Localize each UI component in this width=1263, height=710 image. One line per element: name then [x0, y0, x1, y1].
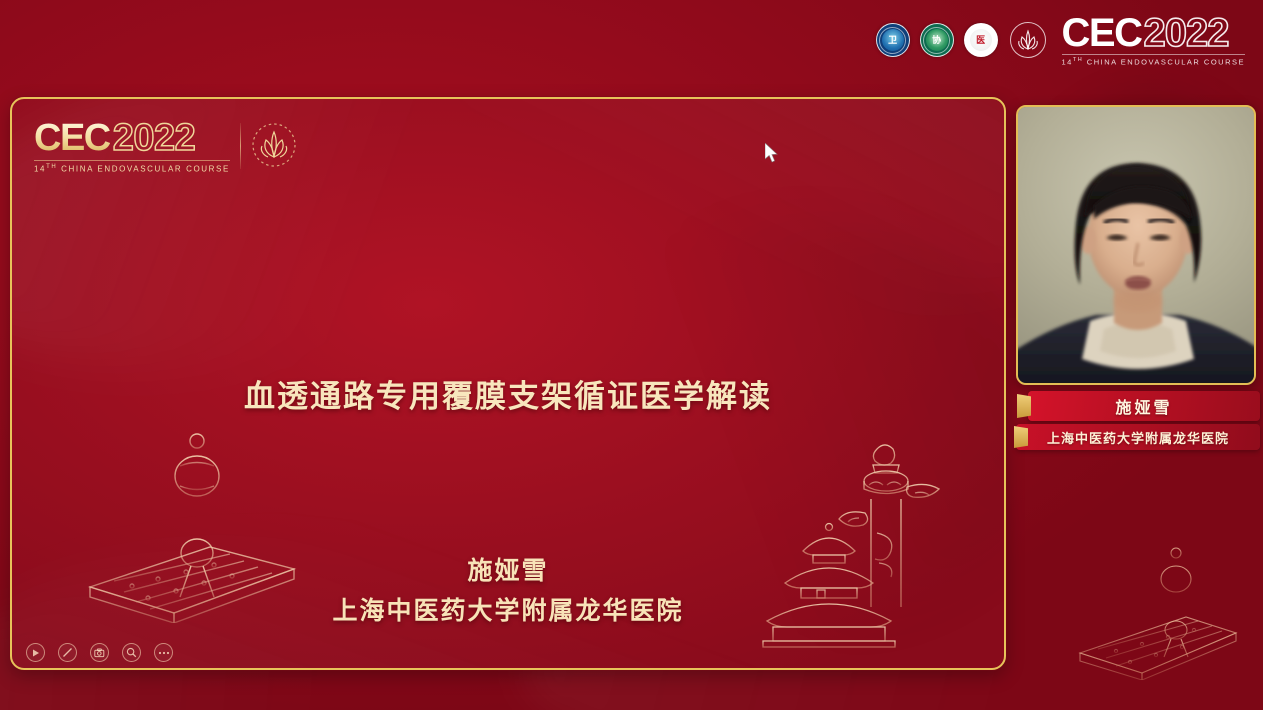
ellipsis-icon[interactable] [154, 643, 173, 662]
magnifier-icon[interactable] [122, 643, 141, 662]
org-logo-3-icon: 医 [964, 23, 998, 57]
cec-subtitle: 14TH CHINA ENDOVASCULAR COURSE [1062, 54, 1246, 67]
org-logo-2-glyph: 协 [932, 36, 941, 45]
logo-divider [240, 123, 241, 169]
presentation-slide[interactable]: CEC 2022 14TH CHINA ENDOVASCULAR COURSE [10, 97, 1006, 670]
speaker-affiliation-banner: 上海中医药大学附属龙华医院 [1016, 424, 1260, 450]
slide-cec-logo: CEC 2022 14TH CHINA ENDOVASCULAR COURSE [34, 121, 297, 174]
cec-wordmark: CEC [1062, 14, 1142, 52]
speaker-name-banners: 施娅雪 上海中医药大学附属龙华医院 [1016, 391, 1260, 450]
org-logo-1-icon: 卫 [876, 23, 910, 57]
org-logo-3-glyph: 医 [976, 36, 985, 45]
play-icon[interactable] [26, 643, 45, 662]
speaker-panel: 施娅雪 上海中医药大学附属龙华医院 [1016, 105, 1256, 450]
speaker-affiliation: 上海中医药大学附属龙华医院 [1047, 428, 1229, 447]
speaker-video[interactable] [1016, 105, 1256, 385]
conference-stream-window: 卫 协 医 [0, 0, 1263, 710]
cec-year: 2022 [1143, 14, 1228, 52]
cec-edition-number: 14 [1062, 58, 1073, 67]
header-logo-group: 卫 协 医 [876, 14, 1246, 67]
page-header: 卫 协 医 [0, 0, 1263, 92]
lotus-icon [251, 122, 297, 168]
cec-edition-suffix: TH [1073, 57, 1083, 63]
speaker-name-banner: 施娅雪 [1028, 391, 1260, 421]
cec-subtitle-text: CHINA ENDOVASCULAR COURSE [1087, 58, 1245, 67]
ribbon-tail [1014, 426, 1028, 448]
slide-subtitle-text: CHINA ENDOVASCULAR COURSE [61, 165, 230, 174]
slide-toolbar [26, 643, 173, 662]
slide-silk-sweep [379, 97, 1006, 345]
org-logo-1-glyph: 卫 [888, 36, 897, 45]
ribbon-tail [1017, 394, 1031, 418]
slide-cec-subtitle: 14TH CHINA ENDOVASCULAR COURSE [34, 160, 230, 174]
slide-title: 血透通路专用覆膜支架循证医学解读 [12, 371, 1004, 416]
pen-icon[interactable] [58, 643, 77, 662]
cec-brand-header: CEC 2022 14TH CHINA ENDOVASCULAR COURSE [1062, 14, 1246, 67]
oriental-pearl-tower-icon [1050, 505, 1250, 680]
slide-cec-wordmark: CEC [34, 121, 110, 156]
slide-presenter-name: 施娅雪 [12, 551, 1004, 587]
org-logo-2-icon: 协 [920, 23, 954, 57]
camera-icon[interactable] [90, 643, 109, 662]
speaker-name: 施娅雪 [1115, 394, 1172, 418]
slide-presenter-affiliation: 上海中医药大学附属龙华医院 [12, 591, 1004, 627]
slide-edition-suffix: TH [46, 164, 57, 170]
slide-edition-number: 14 [34, 165, 46, 174]
speaker-portrait [1018, 107, 1256, 385]
lotus-icon [1010, 22, 1046, 58]
slide-cec-year: 2022 [113, 121, 196, 156]
